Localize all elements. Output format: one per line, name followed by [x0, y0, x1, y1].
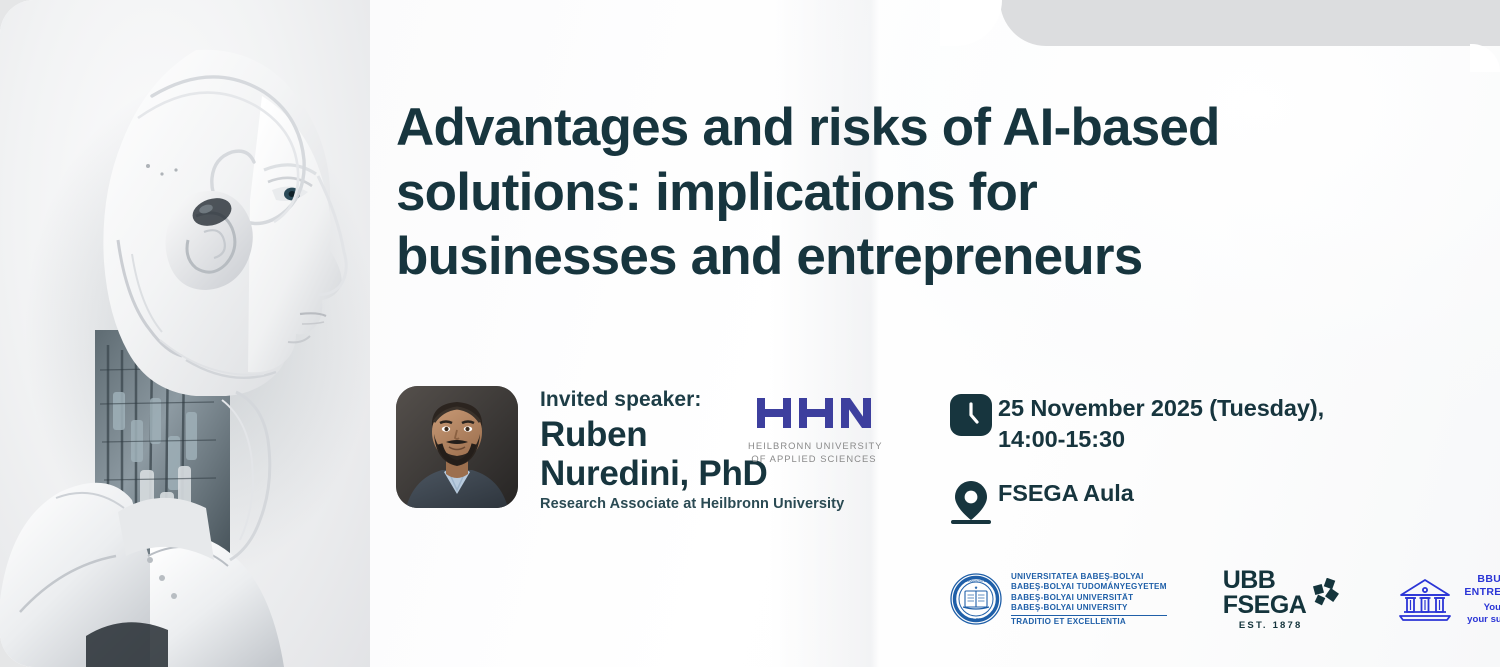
detail-text-location: FSEGA Aula [998, 477, 1134, 509]
speaker-role: Research Associate at Heilbronn Universi… [540, 496, 844, 512]
card-top-right-notch [1000, 0, 1500, 46]
title-line-1: Advantages and risks of AI-based [396, 96, 1486, 161]
svg-text:⚜: ⚜ [974, 585, 978, 590]
hhn-monogram-icon [755, 396, 873, 430]
svg-text:ESSE · BOLYAI: ESSE · BOLYAI [965, 617, 986, 621]
datetime-line-1: 25 November 2025 (Tuesday), [998, 393, 1324, 424]
fsega-words: UBB FSEGA [1223, 568, 1307, 617]
ubb-motto: TRADITIO ET EXCELLENTIA [1011, 617, 1167, 627]
bbu-title-line-2: ENTREPRENEURSHIP [1464, 586, 1500, 599]
hhn-subtitle-line-2: OF APPLIED SCIENCES [748, 452, 880, 465]
fsega-word-ubb: UBB [1223, 568, 1307, 593]
event-poster: Advantages and risks of AI-based solutio… [0, 0, 1500, 667]
bbu-tagline-line-1: Your ideas today, [1464, 602, 1500, 614]
ubb-line-2: BABEŞ-BOLYAI TUDOMÁNYEGYETEM [1011, 582, 1167, 592]
location-pin-icon [950, 477, 998, 530]
robot-head-image [0, 0, 370, 667]
bbu-text-block: BBU CENTER OF ENTREPRENEURSHIP Your idea… [1464, 573, 1500, 626]
svg-text:UNIVERSITATEA: UNIVERSITATEA [964, 579, 987, 583]
bbu-tagline: Your ideas today, your success tomorrow! [1464, 602, 1500, 626]
speaker-avatar [396, 386, 518, 508]
bbu-title: BBU CENTER OF ENTREPRENEURSHIP [1464, 573, 1500, 598]
detail-row-datetime: 25 November 2025 (Tuesday), 14:00-15:30 [950, 392, 1324, 455]
bbu-building-icon [1396, 576, 1454, 624]
hhn-subtitle: HEILBRONN UNIVERSITY OF APPLIED SCIENCES [748, 439, 880, 466]
detail-text-datetime: 25 November 2025 (Tuesday), 14:00-15:30 [998, 392, 1324, 455]
logo-bbu-center: BBU CENTER OF ENTREPRENEURSHIP Your idea… [1396, 573, 1500, 626]
ubb-seal-icon: UNIVERSITATEA ESSE · BOLYAI [950, 573, 1002, 625]
footer-logos: UNIVERSITATEA ESSE · BOLYAI [950, 568, 1500, 631]
fsega-diamond-icon [1310, 578, 1340, 608]
ubb-divider [1011, 615, 1167, 616]
ubb-line-3: BABEŞ-BOLYAI UNIVERSITÄT [1011, 593, 1167, 603]
event-details: 25 November 2025 (Tuesday), 14:00-15:30 … [950, 392, 1324, 552]
ubb-line-1: UNIVERSITATEA BABEŞ-BOLYAI [1011, 572, 1167, 582]
poster-title: Advantages and risks of AI-based solutio… [396, 96, 1486, 290]
ubb-line-4: BABEŞ-BOLYAI UNIVERSITY [1011, 603, 1167, 613]
detail-row-location: FSEGA Aula [950, 477, 1324, 530]
fsega-established: EST. 1878 [1223, 620, 1319, 631]
poster-card: Advantages and risks of AI-based solutio… [0, 0, 1500, 667]
robot-head-illustration [0, 0, 370, 667]
title-line-2: solutions: implications for [396, 161, 1486, 226]
bbu-tagline-line-2: your success tomorrow! [1464, 614, 1500, 626]
hhn-logo: HEILBRONN UNIVERSITY OF APPLIED SCIENCES [748, 396, 880, 466]
fsega-word-fsega: FSEGA [1223, 593, 1307, 618]
logo-ubb-fsega: UBB FSEGA EST. 1878 [1223, 568, 1341, 631]
ubb-name-lines: UNIVERSITATEA BABEŞ-BOLYAI BABEŞ-BOLYAI … [1011, 572, 1167, 627]
title-line-3: businesses and entrepreneurs [396, 225, 1486, 290]
fsega-wordmark: UBB FSEGA [1223, 568, 1341, 617]
logo-ubb-university: UNIVERSITATEA ESSE · BOLYAI [950, 572, 1167, 627]
bbu-title-line-1: BBU CENTER OF [1464, 573, 1500, 586]
datetime-line-2: 14:00-15:30 [998, 424, 1324, 455]
location-line-1: FSEGA Aula [998, 478, 1134, 509]
hhn-subtitle-line-1: HEILBRONN UNIVERSITY [748, 440, 883, 451]
speaker-portrait [396, 386, 518, 508]
clock-icon [950, 392, 998, 441]
